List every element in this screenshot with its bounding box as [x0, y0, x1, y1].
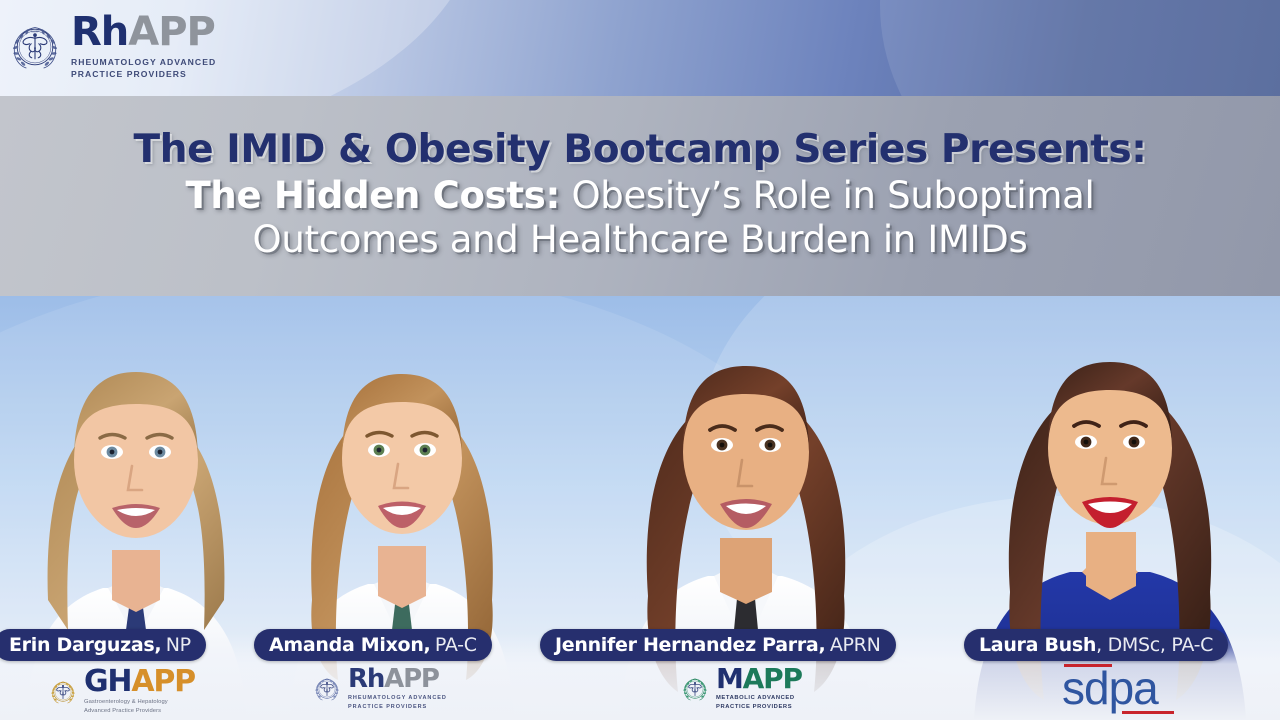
- caduceus-laurel-seal-icon: [312, 674, 342, 704]
- caduceus-laurel-seal-icon: [680, 674, 710, 704]
- title-band: The IMID & Obesity Bootcamp Series Prese…: [0, 96, 1280, 296]
- rhapp-tagline-line1: RHEUMATOLOGY ADVANCED: [71, 56, 216, 68]
- speaker-badge-4: Laura Bush, DMSc, PA-C: [964, 629, 1228, 661]
- mapp-tagline-line1: METABOLIC ADVANCED: [716, 694, 802, 703]
- rhapp-partner-wordmark-rh: Rh: [348, 664, 384, 694]
- ghapp-wordmark-app: APP: [131, 664, 195, 699]
- sdpa-wordmark: sdpa: [1062, 665, 1158, 711]
- rhapp-partner-wordmark-app: APP: [384, 664, 439, 694]
- mapp-wordmark-m: M: [716, 662, 743, 695]
- caduceus-laurel-seal-icon: RhAPP: [8, 20, 62, 74]
- rhapp-tagline: RHEUMATOLOGY ADVANCED PRACTICE PROVIDERS: [71, 56, 216, 80]
- speaker-credentials-4: , DMSc, PA-C: [1096, 634, 1213, 656]
- speaker-name-4: Laura Bush: [979, 634, 1096, 656]
- ghapp-tagline-line1: Gastroenterology & Hepatology: [84, 698, 195, 707]
- sdpa-wordmark-icon: sdpa: [1062, 664, 1184, 716]
- header-swoosh-right: [880, 0, 1280, 96]
- speaker-credentials-1: NP: [166, 634, 191, 656]
- caduceus-laurel-seal-icon: [48, 677, 78, 707]
- mapp-tagline-line2: PRACTICE PROVIDERS: [716, 703, 802, 712]
- ghapp-tagline-line2: Advanced Practice Providers: [84, 707, 195, 716]
- svg-text:RhAPP: RhAPP: [31, 29, 39, 33]
- sdpa-bar-bottom: [1122, 711, 1174, 714]
- rhapp-logo: RhAPP RhAPP RHEUMATOLOGY ADVANCED PRACTI…: [8, 14, 216, 80]
- session-title-rest: Obesity’s Role in Suboptimal: [560, 174, 1095, 217]
- rhapp-wordmark-app: APP: [128, 9, 215, 55]
- rhapp-wordmark-rh: Rh: [71, 9, 128, 55]
- presentation-title-slide: RhAPP RhAPP RHEUMATOLOGY ADVANCED PRACTI…: [0, 0, 1280, 720]
- rhapp-partner-wordmark: RhAPP: [348, 668, 447, 691]
- ghapp-logo: GHAPP Gastroenterology & Hepatology Adva…: [48, 668, 195, 715]
- speaker-credentials-2: PA-C: [435, 634, 477, 656]
- ghapp-wordmark: GHAPP: [84, 668, 195, 695]
- ghapp-tagline: Gastroenterology & Hepatology Advanced P…: [84, 698, 195, 715]
- rhapp-partner-tagline-line2: PRACTICE PROVIDERS: [348, 703, 447, 711]
- speaker-name-2: Amanda Mixon,: [269, 634, 430, 656]
- rhapp-partner-tagline: RHEUMATOLOGY ADVANCED PRACTICE PROVIDERS: [348, 694, 447, 711]
- mapp-wordmark-app: APP: [743, 662, 802, 695]
- mapp-logo: MAPP METABOLIC ADVANCED PRACTICE PROVIDE…: [680, 666, 802, 712]
- mapp-wordmark: MAPP: [716, 666, 802, 691]
- session-title-line1: The Hidden Costs: Obesity’s Role in Subo…: [185, 174, 1094, 218]
- sdpa-logo: sdpa: [1062, 664, 1184, 716]
- speaker-name-3: Jennifer Hernandez Parra,: [555, 634, 825, 656]
- speaker-badge-2: Amanda Mixon, PA-C: [254, 629, 492, 661]
- header-band: RhAPP RhAPP RHEUMATOLOGY ADVANCED PRACTI…: [0, 0, 1280, 96]
- speaker-badge-1: Erin Darguzas, NP: [0, 629, 206, 661]
- rhapp-partner-tagline-line1: RHEUMATOLOGY ADVANCED: [348, 694, 447, 702]
- ghapp-wordmark-gh: GH: [84, 664, 131, 699]
- rhapp-wordmark: RhAPP: [71, 14, 216, 52]
- rhapp-tagline-line2: PRACTICE PROVIDERS: [71, 68, 216, 80]
- mapp-tagline: METABOLIC ADVANCED PRACTICE PROVIDERS: [716, 694, 802, 711]
- series-title: The IMID & Obesity Bootcamp Series Prese…: [134, 129, 1147, 170]
- rhapp-partner-logo: RhAPP RHEUMATOLOGY ADVANCED PRACTICE PRO…: [312, 668, 447, 711]
- speaker-credentials-3: APRN: [830, 634, 881, 656]
- session-title-emphasis: The Hidden Costs:: [185, 174, 560, 217]
- session-title-line2: Outcomes and Healthcare Burden in IMIDs: [253, 218, 1028, 262]
- speaker-name-1: Erin Darguzas,: [9, 634, 161, 656]
- speaker-badge-3: Jennifer Hernandez Parra, APRN: [540, 629, 896, 661]
